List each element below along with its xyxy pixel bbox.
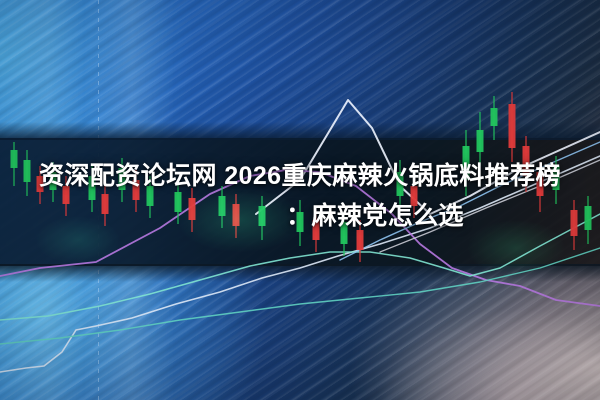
poster-banner: 资深配资论坛网 2026重庆麻辣火锅底料推荐榜 ：麻辣党怎么选 [0, 0, 600, 400]
candlestick [509, 92, 516, 162]
headline-line-1: 资深配资论坛网 2026重庆麻辣火锅底料推荐榜 [0, 156, 600, 196]
headline-line-2: ：麻辣党怎么选 [0, 196, 600, 236]
candle-body [509, 104, 516, 148]
candle-body [477, 130, 484, 152]
candlestick [491, 96, 498, 140]
candle-body [491, 108, 498, 126]
page-title: 资深配资论坛网 2026重庆麻辣火锅底料推荐榜 ：麻辣党怎么选 [0, 156, 600, 236]
